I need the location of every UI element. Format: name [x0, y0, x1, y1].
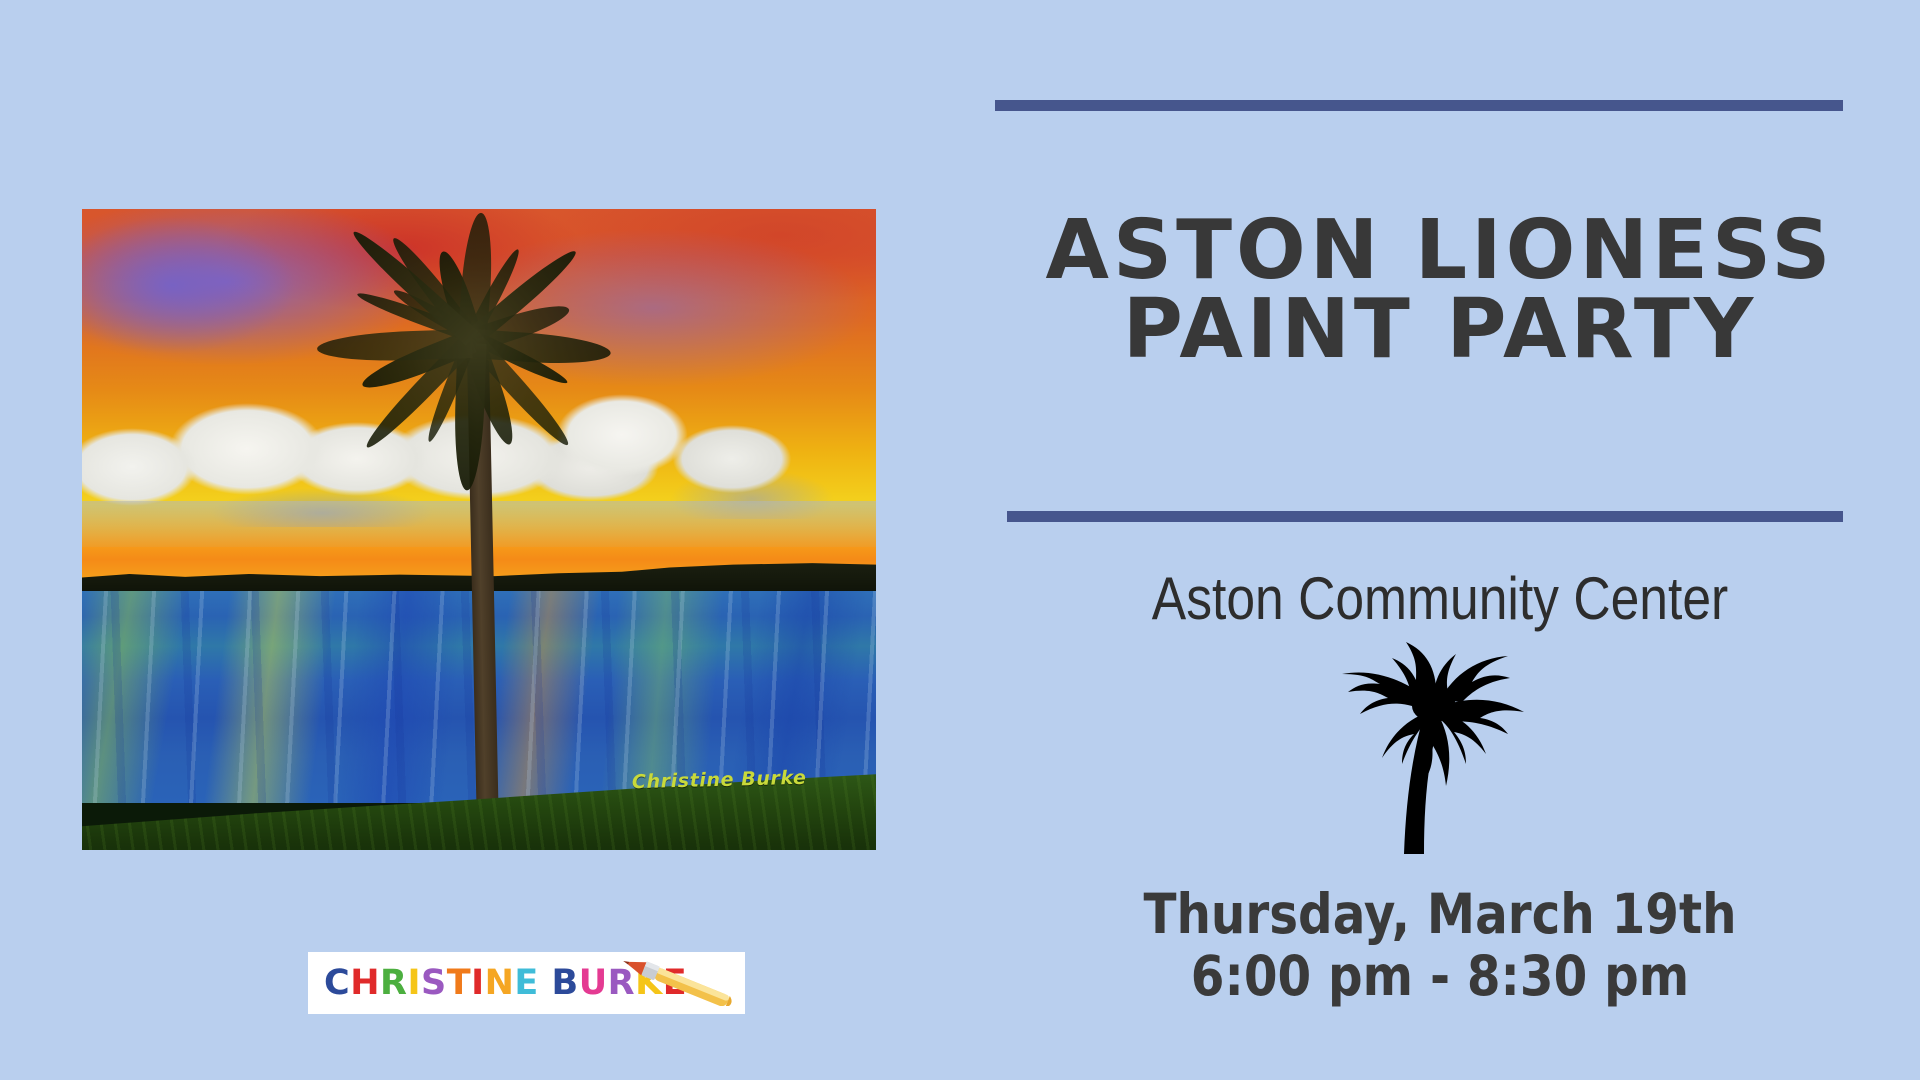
divider-rule-top	[995, 100, 1843, 111]
logo-letter: C	[324, 966, 350, 1001]
page-title-line-1: ASTON LIONESS	[960, 212, 1920, 291]
divider-rule-middle	[1007, 511, 1843, 522]
event-datetime: Thursday, March 19th 6:00 pm - 8:30 pm	[960, 884, 1920, 1007]
page-title-line-2: PAINT PARTY	[960, 291, 1920, 370]
logo-letter: U	[579, 966, 608, 1001]
page-title: ASTON LIONESS PAINT PARTY	[960, 212, 1920, 369]
left-column: Christine Burke CHRISTINE BURKE	[0, 0, 960, 1080]
logo-letter: N	[485, 966, 515, 1001]
painting-palm-fronds	[332, 219, 632, 469]
logo-letter: S	[421, 966, 447, 1001]
logo-letter: T	[447, 966, 471, 1001]
logo-letter: I	[407, 966, 421, 1001]
logo-letter	[539, 966, 552, 1001]
paintbrush-icon	[619, 960, 739, 1006]
artwork-painting: Christine Burke	[82, 209, 876, 850]
logo-letter: B	[552, 966, 579, 1001]
palm-tree-icon	[1328, 640, 1544, 862]
event-time: 6:00 pm - 8:30 pm	[1018, 946, 1863, 1008]
right-column: ASTON LIONESS PAINT PARTY Aston Communit…	[960, 0, 1920, 1080]
venue-name: Aston Community Center	[1027, 564, 1853, 633]
artwork-signature: Christine Burke	[632, 767, 807, 794]
christine-burke-logo[interactable]: CHRISTINE BURKE	[308, 952, 745, 1014]
logo-letter: H	[350, 966, 380, 1001]
event-date: Thursday, March 19th	[1018, 884, 1863, 946]
logo-letter: I	[471, 966, 485, 1001]
logo-letter: R	[380, 966, 407, 1001]
logo-letter: E	[514, 966, 538, 1001]
